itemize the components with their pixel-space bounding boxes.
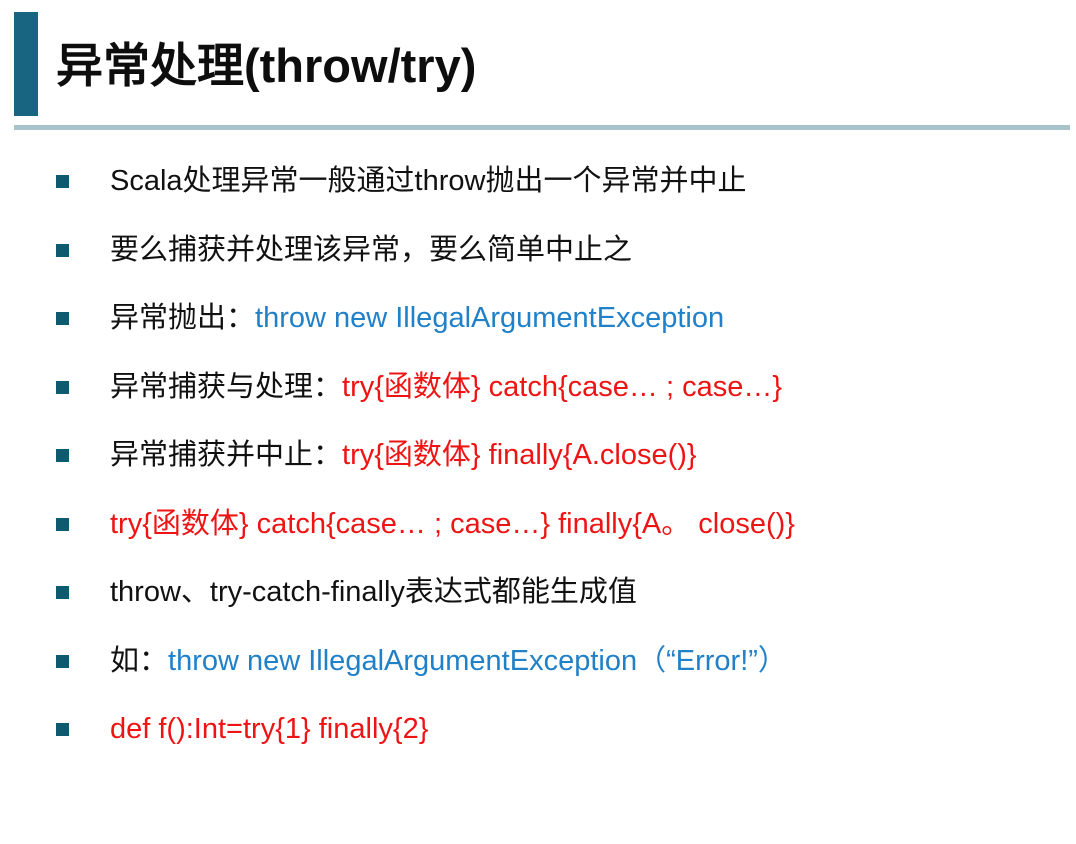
text-segment-black: 要么捕获并处理该异常，要么简单中止之	[110, 234, 632, 266]
bullet-square-icon	[56, 175, 69, 188]
text-segment-red: try{函数体} catch{case… ; case…}	[342, 371, 782, 403]
text-segment-red: try{函数体} catch{case… ; case…} finally{A。…	[110, 508, 795, 540]
text-segment-black: Scala处理异常一般通过throw抛出一个异常并中止	[110, 165, 746, 197]
bullet-square-icon	[56, 312, 69, 325]
bullet-square-icon	[56, 244, 69, 257]
page-title: 异常处理(throw/try)	[56, 18, 476, 114]
bullet-list: Scala处理异常一般通过throw抛出一个异常并中止要么捕获并处理该异常，要么…	[0, 147, 1076, 764]
bullet-square-icon	[56, 381, 69, 394]
title-divider	[14, 125, 1070, 130]
bullet-item: def f():Int=try{1} finally{2}	[0, 695, 1076, 764]
bullet-item-text: throw、try-catch-finally表达式都能生成值	[110, 558, 637, 627]
bullet-item: 异常抛出：throw new IllegalArgumentException	[0, 284, 1076, 353]
slide-title-block: 异常处理(throw/try)	[0, 0, 1076, 128]
bullet-item-text: 如：throw new IllegalArgumentException（“Er…	[110, 627, 787, 696]
bullet-square-icon	[56, 518, 69, 531]
slide-canvas: 异常处理(throw/try) Scala处理异常一般通过throw抛出一个异常…	[0, 0, 1076, 844]
title-accent-bar	[14, 12, 38, 116]
text-segment-blue: throw new IllegalArgumentException	[255, 302, 724, 334]
bullet-square-icon	[56, 449, 69, 462]
bullet-item-text: try{函数体} catch{case… ; case…} finally{A。…	[110, 490, 795, 559]
bullet-item: Scala处理异常一般通过throw抛出一个异常并中止	[0, 147, 1076, 216]
bullet-item-text: 异常抛出：throw new IllegalArgumentException	[110, 284, 724, 353]
bullet-item: try{函数体} catch{case… ; case…} finally{A。…	[0, 490, 1076, 559]
text-segment-blue: throw new IllegalArgumentException（“Erro…	[168, 645, 787, 677]
bullet-square-icon	[56, 723, 69, 736]
bullet-item: 异常捕获与处理：try{函数体} catch{case… ; case…}	[0, 353, 1076, 422]
bullet-square-icon	[56, 655, 69, 668]
bullet-item-text: Scala处理异常一般通过throw抛出一个异常并中止	[110, 147, 746, 216]
text-segment-red: try{函数体} finally{A.close()}	[342, 439, 697, 471]
text-segment-black: 如：	[110, 645, 168, 677]
text-segment-black: 异常捕获与处理：	[110, 371, 342, 403]
bullet-square-icon	[56, 586, 69, 599]
text-segment-black: throw、try-catch-finally表达式都能生成值	[110, 576, 637, 608]
bullet-item-text: 异常捕获并中止：try{函数体} finally{A.close()}	[110, 421, 697, 490]
bullet-item-text: 要么捕获并处理该异常，要么简单中止之	[110, 216, 632, 285]
bullet-item: 要么捕获并处理该异常，要么简单中止之	[0, 216, 1076, 285]
bullet-item: throw、try-catch-finally表达式都能生成值	[0, 558, 1076, 627]
text-segment-black: 异常抛出：	[110, 302, 255, 334]
bullet-item: 异常捕获并中止：try{函数体} finally{A.close()}	[0, 421, 1076, 490]
bullet-item-text: def f():Int=try{1} finally{2}	[110, 695, 428, 764]
text-segment-black: 异常捕获并中止：	[110, 439, 342, 471]
bullet-item-text: 异常捕获与处理：try{函数体} catch{case… ; case…}	[110, 353, 782, 422]
bullet-item: 如：throw new IllegalArgumentException（“Er…	[0, 627, 1076, 696]
text-segment-red: def f():Int=try{1} finally{2}	[110, 713, 428, 745]
